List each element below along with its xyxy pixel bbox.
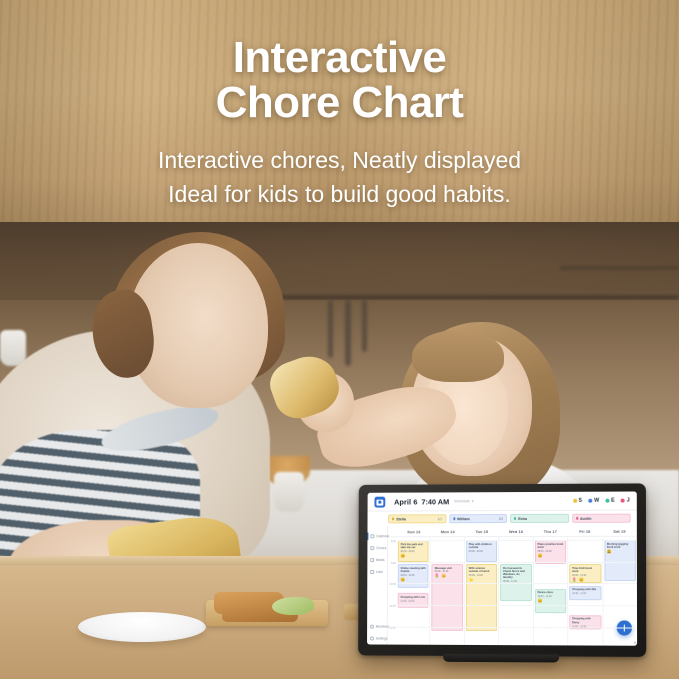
sidebar-item-label: Settings — [376, 637, 388, 641]
avatar-dot — [621, 498, 625, 502]
day-column[interactable]: Do housework. Check floors and Windows, … — [499, 537, 534, 645]
day-header[interactable]: Sat 19 — [602, 526, 637, 536]
calendar-event[interactable]: Play with children outside08:00 - 09:00 — [466, 540, 497, 562]
sidebar-item-label: Meals — [376, 558, 385, 562]
day-column[interactable]: Massage visit09:00 - 11:30🌷 👑 — [431, 537, 465, 645]
tablet-screen: April 6 7:40 AM Schedule ▾ SWEJ Stella1/… — [367, 491, 637, 645]
avatar[interactable]: S — [573, 498, 582, 504]
day-column[interactable]: Pick the park and take the car08:00 - 09… — [397, 537, 431, 645]
time-label: 9:00 — [391, 562, 396, 565]
hour-gridline — [397, 562, 637, 563]
person-tab-stella[interactable]: Stella1/1 — [388, 514, 446, 523]
headline-sub-line1: Interactive chores, Neatly displayed — [0, 144, 679, 177]
person-tab-echo[interactable]: Echo — [510, 514, 569, 523]
avatar-letter: E — [611, 498, 615, 504]
calendar-event[interactable]: Dance class10:30 - 11:30😊 — [535, 589, 567, 613]
calendar-grid: 8:009:0010:0011:0012:00 Pick the park an… — [388, 537, 637, 646]
time-label: 12:00 — [389, 626, 395, 629]
time-label: 8:00 — [391, 540, 396, 543]
event-title: Massage visit — [435, 567, 461, 570]
list-icon — [370, 570, 374, 574]
calendar-event[interactable]: Massage visit09:00 - 11:30🌷 👑 — [432, 564, 463, 631]
avatar[interactable]: J — [621, 498, 630, 504]
person-name: Echo — [518, 516, 527, 520]
gear-icon — [370, 637, 374, 641]
jar-2 — [274, 472, 304, 512]
event-title: Do housework. Check floors and Windows, … — [503, 567, 529, 580]
day-header[interactable]: Mon 14 — [431, 526, 465, 536]
person-name: Stella — [396, 517, 406, 521]
header-time: 7:40 AM — [421, 497, 449, 506]
utensil-3 — [362, 300, 367, 352]
calendar-event[interactable]: Do housework. Check floors and Windows, … — [500, 564, 531, 601]
event-emoji: 😊 — [401, 554, 427, 558]
person-tabs: Stella1/1William2/2EchoAustin — [368, 511, 637, 527]
event-emoji: 😃 — [607, 550, 633, 554]
event-title: Shopping with Daisy — [572, 618, 598, 625]
kitchen-rail — [270, 292, 679, 299]
person-tab-william[interactable]: William2/2 — [449, 514, 507, 523]
person-name: William — [457, 517, 470, 521]
headline-title-line1: Interactive — [0, 36, 679, 81]
kitchen-rail-upper — [560, 266, 679, 270]
calendar-event[interactable]: Time limit book work09:00 - 10:00🌷 😊 — [569, 564, 601, 584]
person-color-dot — [392, 518, 394, 520]
calendar-event[interactable]: Morning jogging book work😃 — [604, 540, 636, 581]
sidebar: CalendarChoresMealsListsMembersSettings — [367, 526, 388, 644]
calendar-event[interactable]: Piano practice book work08:00 - 09:00😊 — [535, 540, 567, 564]
scroll-indicator[interactable] — [634, 642, 636, 644]
day-header[interactable]: Thu 17 — [533, 526, 567, 536]
sidebar-item-label: Lists — [376, 570, 383, 574]
schedule-dropdown-label[interactable]: Schedule — [454, 499, 470, 503]
event-title: Dance class — [538, 591, 564, 594]
checklist-icon — [370, 546, 374, 550]
headline-title-line2: Chore Chart — [0, 81, 679, 126]
avatar[interactable]: E — [605, 498, 614, 504]
event-title: Time limit book work — [572, 567, 598, 574]
person-tab-austin[interactable]: Austin — [572, 514, 631, 523]
member-avatars: SWEJ — [573, 498, 630, 504]
sidebar-item-settings[interactable]: Settings — [367, 633, 387, 645]
tablet-device: April 6 7:40 AM Schedule ▾ SWEJ Stella1/… — [358, 483, 646, 657]
app-header: April 6 7:40 AM Schedule ▾ SWEJ — [368, 491, 637, 511]
tablet-stand — [443, 654, 559, 663]
day-header[interactable]: Tue 15 — [465, 526, 499, 536]
sidebar-item-meals[interactable]: Meals — [367, 554, 387, 566]
event-time: 11:00 - 12:00 — [400, 599, 426, 602]
person-color-dot — [453, 518, 455, 520]
event-title: Shopping with Luis — [400, 596, 426, 599]
sidebar-item-lists[interactable]: Lists — [367, 566, 387, 578]
calendar-event[interactable]: Shopping with Mia10:30 - 11:00 — [569, 586, 601, 600]
event-title: Online meeting with Sophia — [401, 567, 427, 574]
day-header[interactable]: Wed 16 — [499, 526, 533, 536]
hour-gridline — [397, 583, 637, 584]
event-emoji: 🌷 😊 — [572, 578, 598, 582]
day-column[interactable]: Time limit book work09:00 - 10:00🌷 😊Shop… — [568, 537, 603, 646]
calendar-event[interactable]: With science outside of lunch09:00 - 10:… — [466, 564, 497, 631]
time-label: 10:00 — [389, 583, 395, 586]
white-plate — [78, 612, 206, 642]
day-header[interactable]: Fri 18 — [568, 526, 603, 536]
day-header[interactable]: Sun 13 — [397, 526, 431, 536]
calendar-icon — [370, 534, 374, 538]
meal-icon — [370, 558, 374, 562]
event-time: 10:30 - 11:00 — [572, 592, 598, 595]
event-emoji: 😊 — [538, 599, 564, 603]
event-emoji: 🌟 — [469, 578, 495, 582]
avatar[interactable]: W — [588, 498, 599, 504]
child-fringe — [412, 330, 504, 382]
avatar-dot — [605, 499, 609, 503]
app-body: CalendarChoresMealsListsMembersSettings … — [367, 526, 637, 646]
header-date: April 6 — [394, 497, 417, 506]
day-column[interactable]: Play with children outside08:00 - 09:00W… — [465, 537, 499, 645]
event-emoji: 😊 — [401, 578, 427, 582]
calendar-area: Sun 13Mon 14Tue 15Wed 16Thu 17Fri 18Sat … — [388, 526, 637, 646]
event-emoji: 😊 — [538, 554, 564, 558]
avatar-dot — [573, 499, 577, 503]
lettuce — [272, 597, 314, 615]
sidebar-spacer — [367, 578, 387, 621]
day-headers: Sun 13Mon 14Tue 15Wed 16Thu 17Fri 18Sat … — [388, 526, 637, 538]
utensil-2 — [345, 300, 351, 366]
event-title: Shopping with Mia — [572, 588, 598, 591]
person-color-dot — [576, 517, 578, 519]
people-icon — [370, 625, 374, 629]
avatar-dot — [588, 499, 592, 503]
event-title: Play with children outside — [469, 543, 495, 550]
day-column[interactable]: Piano practice book work08:00 - 09:00😊Da… — [534, 537, 569, 646]
event-emoji: 🌷 👑 — [435, 574, 461, 578]
time-label: 11:00 — [390, 605, 396, 608]
person-task-count: 2/2 — [499, 517, 503, 521]
product-banner: Interactive Chore Chart Interactive chor… — [0, 0, 679, 679]
event-title: Piano practice book work — [538, 543, 564, 550]
sidebar-item-calendar[interactable]: Calendar — [367, 530, 387, 542]
headline-sub-line2: Ideal for kids to build good habits. — [0, 178, 679, 211]
person-name: Austin — [580, 516, 592, 520]
avatar-letter: S — [579, 498, 583, 504]
day-columns: Pick the park and take the car08:00 - 09… — [397, 537, 637, 646]
utensil-1 — [328, 300, 333, 358]
calendar-event[interactable]: Pick the park and take the car08:00 - 09… — [398, 540, 429, 561]
sidebar-item-chores[interactable]: Chores — [367, 542, 387, 554]
sidebar-item-label: Chores — [376, 546, 386, 550]
event-time: 08:00 - 09:00 — [469, 550, 495, 553]
avatar-letter: J — [627, 498, 630, 504]
headline-block: Interactive Chore Chart Interactive chor… — [0, 36, 679, 211]
person-color-dot — [514, 517, 516, 519]
calendar-icon — [374, 496, 385, 507]
event-title: Pick the park and take the car — [401, 543, 427, 550]
person-task-count: 1/1 — [438, 517, 442, 521]
sidebar-item-members[interactable]: Members — [367, 621, 387, 633]
avatar-letter: W — [594, 498, 599, 504]
chevron-down-icon[interactable]: ▾ — [472, 499, 474, 503]
time-axis: 8:009:0010:0011:0012:00 — [388, 537, 397, 644]
event-title: With science outside of lunch — [469, 567, 495, 574]
